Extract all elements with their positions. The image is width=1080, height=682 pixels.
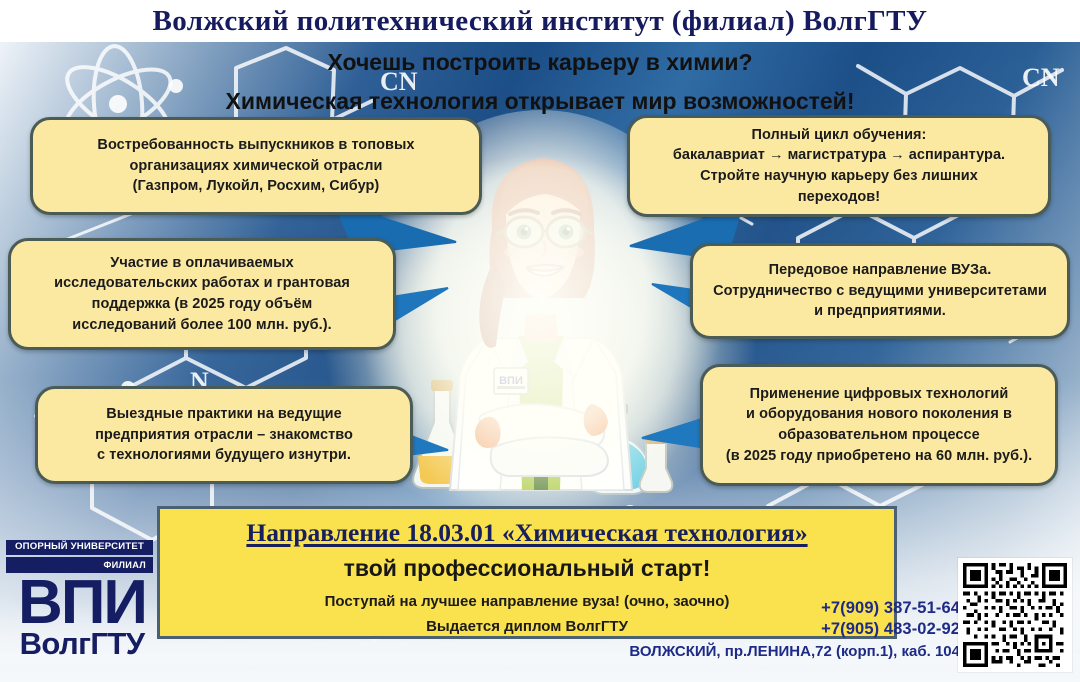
poster-header: Волжский политехнический институт (филиа… [0,0,1080,42]
bubble-research-line-4: исследований более 100 млн. руб.). [72,317,331,333]
subheader-line-1: Хочешь построить карьеру в химии? [0,46,1080,79]
bubble-field-practice[interactable]: Выездные практики на ведущие предприятия… [35,386,413,484]
poster-root: Волжский политехнический институт (филиа… [0,0,1080,682]
subheader-line-2: Химическая технология открывает мир возм… [0,85,1080,118]
bubble-practice-line-2: предприятия отрасли – знакомство [95,427,353,443]
bubble-leading-line-3: и предприятиями. [814,303,946,319]
bubble-cycle-line-3: Стройте научную карьеру без лишних [700,168,978,184]
program-title: Направление 18.03.01 «Химическая техноло… [170,516,884,549]
bubble-demand[interactable]: Востребованность выпускников в топовых о… [30,117,482,215]
logo-abbrev: ВПИ [6,574,158,631]
bubble-digital-line-1: Применение цифровых технологий [750,386,1009,402]
bubble-digital-line-3: образовательном процессе [778,427,980,443]
page-title: Волжский политехнический институт (филиа… [153,5,928,38]
qr-code-matrix [963,563,1067,667]
phone-1[interactable]: +7(909) 387-51-64 [600,598,960,619]
address-line: ВОЛЖСКИЙ, пр.ЛЕНИНА,72 (корп.1), каб. 10… [600,642,960,662]
bubble-digital-line-4: (в 2025 году приобретено на 60 млн. руб.… [726,448,1032,464]
bubble-research-line-2: исследовательских работах и грантовая [54,275,350,291]
bubble-leading-program[interactable]: Передовое направление ВУЗа. Сотрудничест… [690,243,1070,339]
program-tagline: твой профессиональный старт! [170,552,884,585]
bubble-demand-line-2: организациях химической отрасли [129,158,382,174]
bubble-digital-tech[interactable]: Применение цифровых технологий и оборудо… [700,364,1058,486]
contact-block: +7(909) 387-51-64 +7(905) 483-02-92 ВОЛЖ… [600,598,960,662]
bubble-leading-line-1: Передовое направление ВУЗа. [769,262,992,278]
bubble-cycle-line-4: переходов! [798,189,880,205]
bubble-full-cycle[interactable]: Полный цикл обучения: бакалавриат → маги… [627,115,1051,217]
bubble-practice-line-1: Выездные практики на ведущие [106,406,341,422]
bubble-demand-line-3: (Газпром, Лукойл, Росхим, Сибур) [133,178,380,194]
logo-university: ВолгГТУ [6,628,158,659]
bubble-leading-line-2: Сотрудничество с ведущими университетами [713,283,1047,299]
qr-code-icon[interactable] [958,558,1072,672]
bubble-practice-line-3: с технологиями будущего изнутри. [97,447,351,463]
vpi-logo[interactable]: ОПОРНЫЙ УНИВЕРСИТЕТ ФИЛИАЛ ВПИ ВолгГТУ [6,540,158,674]
bubble-digital-line-2: и оборудования нового поколения в [746,406,1012,422]
bubble-demand-line-1: Востребованность выпускников в топовых [97,137,414,153]
logo-top-bar: ОПОРНЫЙ УНИВЕРСИТЕТ [6,540,153,555]
phone-2[interactable]: +7(905) 483-02-92 [600,619,960,640]
subheader-block: Хочешь построить карьеру в химии? Химиче… [0,46,1080,119]
bubble-research-line-3: поддержка (в 2025 году объём [92,296,313,312]
bubble-cycle-line-1: Полный цикл обучения: [752,127,927,143]
bubble-cycle-line-2: бакалавриат → магистратура → аспирантура… [673,147,1005,163]
bubble-research-line-1: Участие в оплачиваемых [110,255,293,271]
bubble-research-grants[interactable]: Участие в оплачиваемых исследовательских… [8,238,396,350]
